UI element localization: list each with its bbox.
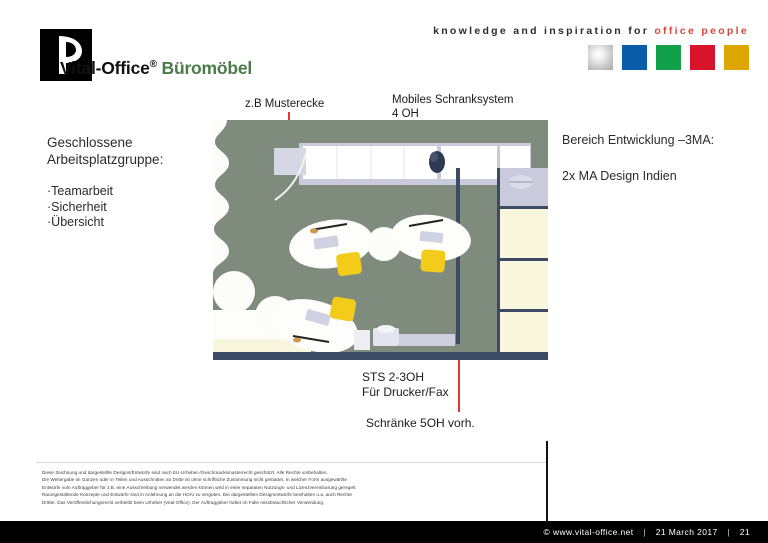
label-sts-line1: STS 2-3OH [362,370,449,385]
floorplan-svg [213,120,548,360]
legal-line-2: Die Weitergabe im Ganzen oder in Teilen … [42,476,542,483]
swatch-yellow [724,45,749,70]
right-subtitle: 2x MA Design Indien [562,169,714,183]
swatch-blue [622,45,647,70]
tagline-accent: office people [654,25,749,37]
left-bullet-teamarbeit: ·Teamarbeit [47,184,163,200]
swatch-silver [588,45,613,70]
left-title-line2: Arbeitsplatzgruppe: [47,151,163,168]
left-annotation-block: Geschlossene Arbeitsplatzgruppe: ·Teamar… [47,134,163,231]
label-schranksystem-line2: 4 OH [392,107,513,121]
label-musterecke: z.B Musterecke [245,98,324,110]
right-title: Bereich Entwicklung –3MA: [562,133,714,147]
legal-line-1: Diese Zeichnung und dargestellte Designs… [42,469,542,476]
footer-content: © www.vital-office.net | 21 March 2017 |… [544,527,750,537]
legal-divider [36,462,548,463]
tagline-main: knowledge and inspiration for [433,25,649,37]
left-bullet-uebersicht: ·Übersicht [47,215,163,231]
tagline: knowledge and inspiration for office peo… [433,25,749,37]
label-schranksystem-line1: Mobiles Schranksystem [392,93,513,107]
logo-brand: Vital-Office [60,58,150,78]
legal-line-5: Dritter. Das Veröffentlichungsrecht verb… [42,499,542,506]
left-bullet-list: ·Teamarbeit ·Sicherheit ·Übersicht [47,184,163,231]
footer-page-number: 21 [740,527,750,537]
legal-line-4: Raumgestaltende Konzepte und Entwürfe si… [42,491,542,498]
footer-copyright[interactable]: © www.vital-office.net [544,527,634,537]
label-schraenke: Schränke 5OH vorh. [366,416,475,430]
footer-separator-1: | [636,527,653,537]
brand-swatches [588,45,749,70]
footer-date: 21 March 2017 [656,527,718,537]
label-sts: STS 2-3OH Für Drucker/Fax [362,370,449,399]
floorplan-render [213,120,548,360]
slide-root: Vital-Office® Büromöbel knowledge and in… [0,0,768,543]
legal-line-3: Entwürfe vom Auftraggeber für z.B. eine … [42,484,542,491]
logo-product: Büromöbel [162,58,253,78]
legal-vertical-rule [546,441,548,523]
swatch-red [690,45,715,70]
logo-registered: ® [150,59,157,70]
legal-notice: Diese Zeichnung und dargestellte Designs… [42,469,542,506]
right-annotation-block: Bereich Entwicklung –3MA: 2x MA Design I… [562,133,714,183]
logo-wordmark: Vital-Office® Büromöbel [60,58,252,79]
label-schranksystem: Mobiles Schranksystem 4 OH [392,93,513,121]
left-title-line1: Geschlossene [47,134,163,151]
label-sts-line2: Für Drucker/Fax [362,385,449,400]
mobile-cabinet-system [299,143,531,185]
swatch-green [656,45,681,70]
footer-bar: © www.vital-office.net | 21 March 2017 |… [0,521,768,543]
left-bullet-sicherheit: ·Sicherheit [47,200,163,216]
footer-separator-2: | [720,527,737,537]
